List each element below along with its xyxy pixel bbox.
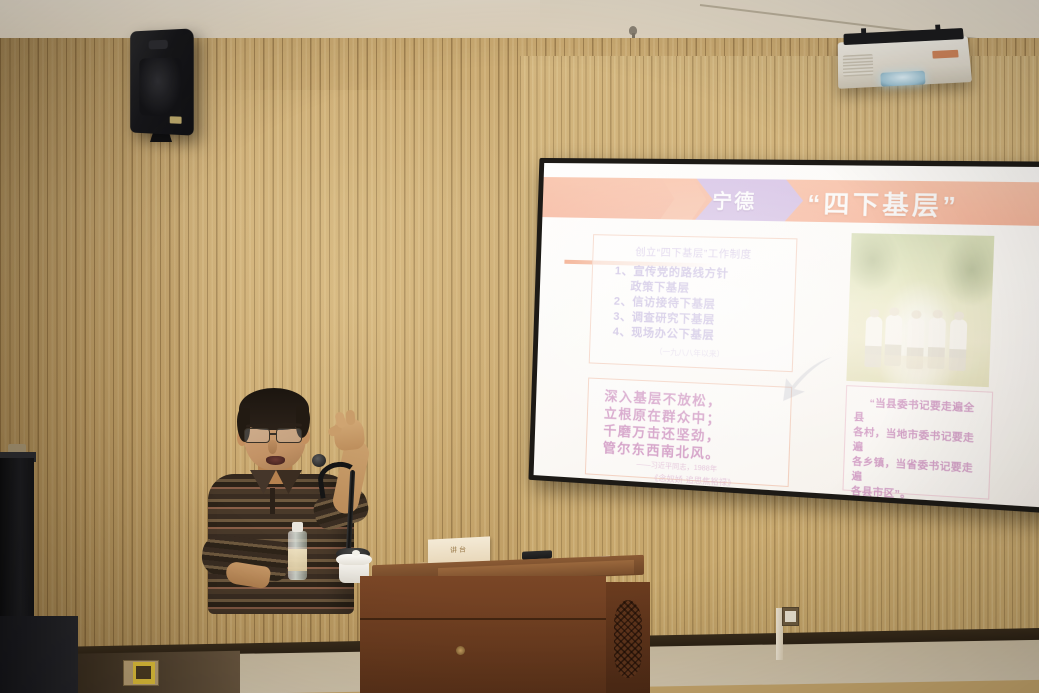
wall-speaker-icon <box>130 28 194 135</box>
bottle-label <box>288 549 307 571</box>
curved-arrow-icon <box>777 351 837 408</box>
poem-box: 深入基层不放松， 立根原在群众中； 千磨万击还坚劲， 管尔东西南北风。 ——习近… <box>585 378 792 488</box>
list-item-num: 2、 <box>614 295 633 308</box>
list-box-heading: 创立“四下基层”工作制度 <box>593 242 796 262</box>
list-item-text: 现场办公下基层 <box>631 327 715 342</box>
slide-badge-label: 宁德 <box>712 186 757 215</box>
list-box-source: （一九八八年以来） <box>590 343 792 363</box>
water-bottle-icon <box>288 531 307 580</box>
glasses-lens-right <box>276 428 302 443</box>
photo-foliage-left <box>846 233 902 294</box>
slide-photo <box>846 233 994 387</box>
lecture-hall-photo: 宁德 “四下基层” 创立“四下基层”工作制度 1、宣传党的路线方针 政策下基层 <box>0 0 1039 693</box>
projector-icon <box>838 36 972 89</box>
list-box: 创立“四下基层”工作制度 1、宣传党的路线方针 政策下基层 2、信访接待下基层 … <box>589 234 798 372</box>
projection-screen[interactable]: 宁德 “四下基层” 创立“四下基层”工作制度 1、宣传党的路线方针 政策下基层 <box>529 158 1039 513</box>
slide-title: “四下基层” <box>807 180 960 225</box>
presentation-slide: 宁德 “四下基层” 创立“四下基层”工作制度 1、宣传党的路线方针 政策下基层 <box>534 163 1039 508</box>
list-item-num: 4、 <box>613 326 632 339</box>
equipment-cabinet-lower <box>0 616 78 693</box>
microphone-icon <box>312 454 326 467</box>
list-item-num: 3、 <box>613 311 632 324</box>
list-item-text: 调查研究下基层 <box>632 311 716 326</box>
list-item-num: 1、 <box>615 265 634 278</box>
podium-front-panel <box>360 576 606 693</box>
list-item-text: 宣传党的路线方针 <box>633 266 729 281</box>
podium-lock <box>456 646 465 655</box>
presenter-nose <box>268 440 277 454</box>
speaker-cone <box>139 58 181 117</box>
photo-path <box>853 354 986 387</box>
projector-logo <box>932 50 958 59</box>
podium-speaker-grille <box>614 600 642 678</box>
screen-frame: 宁德 “四下基层” 创立“四下基层”工作制度 1、宣传党的路线方针 政策下基层 <box>529 158 1039 513</box>
list-item-text: 信访接待下基层 <box>632 296 716 311</box>
projector-vent <box>843 54 874 77</box>
projector-lens <box>880 71 925 87</box>
presenter-placket <box>270 488 275 514</box>
wall-outlet-right[interactable] <box>782 607 799 626</box>
list-box-items: 1、宣传党的路线方针 政策下基层 2、信访接待下基层 3、调查研究下基层 4、现… <box>613 264 796 347</box>
podium: 讲台 <box>360 560 650 693</box>
bottle-cap <box>292 522 303 532</box>
presenter-right-finger <box>345 410 355 426</box>
photo-foliage-right <box>937 233 994 310</box>
tea-cup-knob <box>352 550 360 556</box>
quote-box: “当县委书记要走遍全县 各村，当地市委书记要走遍 各乡镇，当省委书记要走遍 各县… <box>842 385 993 500</box>
speaker-tweeter <box>149 40 168 50</box>
name-card-text: 讲台 <box>428 543 490 556</box>
glasses-lens-left <box>244 428 270 443</box>
presenter-mouth <box>266 456 285 465</box>
presenter-collar <box>250 470 302 496</box>
curved-arrow-svg <box>777 351 837 408</box>
speaker-badge <box>170 116 182 124</box>
wall-outlet-left-plate[interactable] <box>133 662 155 684</box>
